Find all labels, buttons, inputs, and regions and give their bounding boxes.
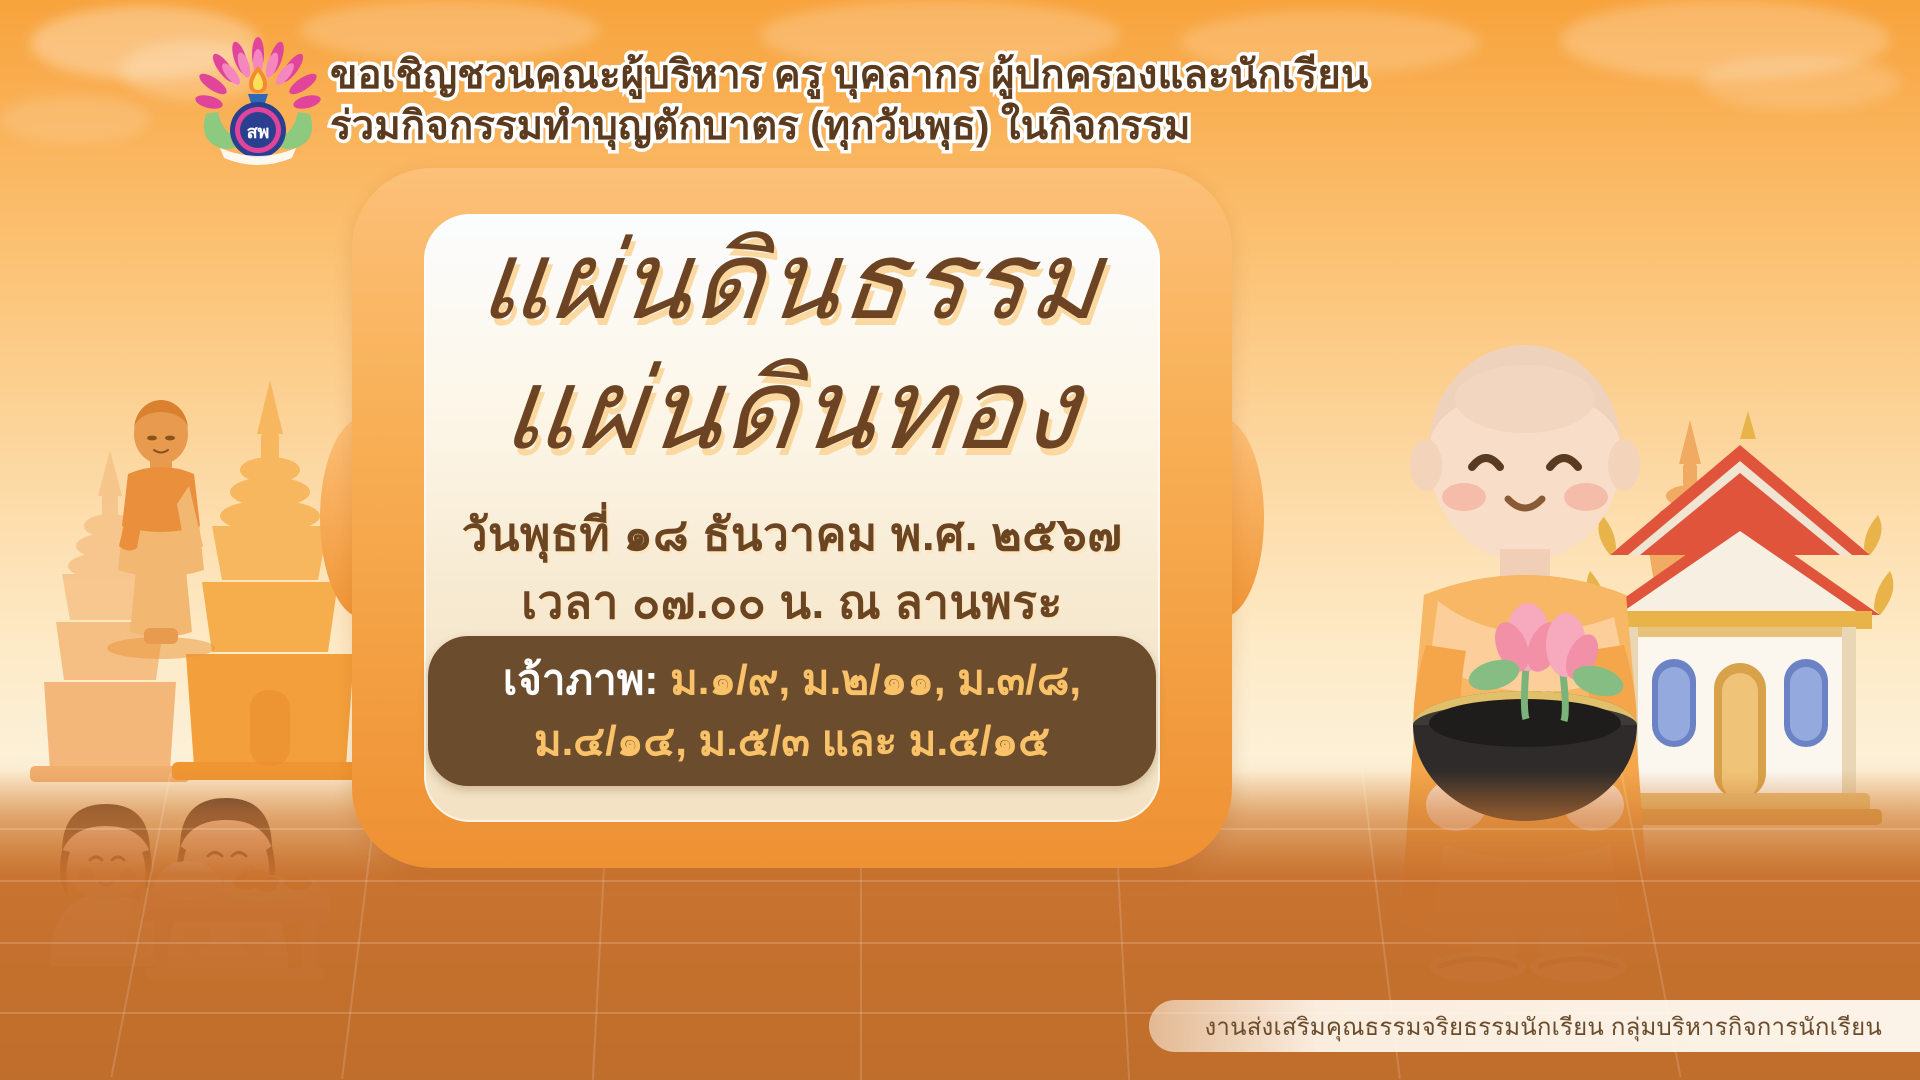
standing-buddha-icon — [86, 390, 236, 660]
header-line-2: ร่วมกิจกรรมทำบุญตักบาตร (ทุกวันพุธ) ในกิ… — [330, 101, 1630, 152]
host-line-2: ม.๔/๑๔, ม.๕/๓ และ ม.๕/๑๕ — [534, 711, 1050, 772]
header-text-block: ขอเชิญชวนคณะผู้บริหาร ครู บุคลากร ผู้ปกค… — [330, 50, 1630, 152]
header: สพ ขอเชิญชวนคณะผู้บริหาร ครู บุคลากร ผู้… — [0, 0, 1920, 180]
event-title: แผ่นดินธรรม แผ่นดินทอง — [352, 228, 1232, 466]
host-label: เจ้าภาพ: — [503, 656, 659, 703]
event-date: วันพุธที่ ๑๘ ธันวาคม พ.ศ. ๒๕๖๗ — [352, 498, 1232, 571]
event-time-place: เวลา ๐๗.๐๐ น. ณ ลานพระ — [352, 566, 1232, 639]
footer-credit-pill: งานส่งเสริมคุณธรรมจริยธรรมนักเรียน กลุ่ม… — [1149, 1000, 1920, 1052]
host-line-1: เจ้าภาพ: ม.๑/๙, ม.๒/๑๑, ม.๓/๘, — [503, 650, 1081, 711]
footer-credit-text: งานส่งเสริมคุณธรรมจริยธรรมนักเรียน กลุ่ม… — [1205, 1007, 1883, 1046]
host-values-line-1: ม.๑/๙, ม.๒/๑๑, ม.๓/๘, — [670, 656, 1081, 703]
event-title-line-1: แผ่นดินธรรม — [346, 228, 1237, 336]
svg-text:สพ: สพ — [247, 122, 270, 143]
header-line-1: ขอเชิญชวนคณะผู้บริหาร ครู บุคลากร ผู้ปกค… — [330, 50, 1630, 101]
poster-canvas: สพ ขอเชิญชวนคณะผู้บริหาร ครู บุคลากร ผู้… — [0, 0, 1920, 1080]
host-banner: เจ้าภาพ: ม.๑/๙, ม.๒/๑๑, ม.๓/๘, ม.๔/๑๔, ม… — [428, 636, 1156, 786]
school-emblem-logo: สพ — [196, 36, 320, 164]
host-values-line-2: ม.๔/๑๔, ม.๕/๓ และ ม.๕/๑๕ — [534, 717, 1050, 764]
event-title-line-2: แผ่นดินทอง — [346, 354, 1238, 466]
main-plaque: แผ่นดินธรรม แผ่นดินทอง วันพุธที่ ๑๘ ธันว… — [352, 168, 1232, 868]
